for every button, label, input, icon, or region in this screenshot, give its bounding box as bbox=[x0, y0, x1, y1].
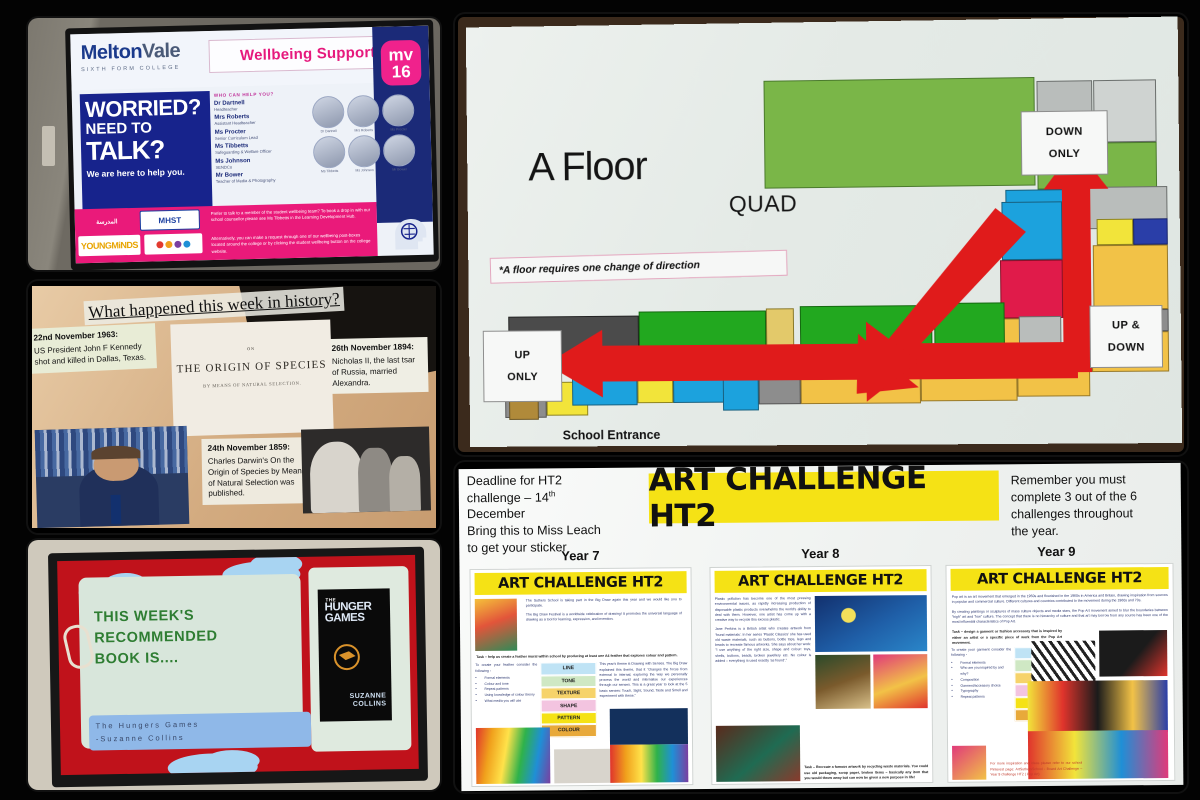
avatar-caption: Ms Tibbetts bbox=[314, 169, 346, 174]
bullet-item: Who are you inspired by and why? bbox=[960, 666, 1011, 678]
panel-history-slide: What happened this week in history? 22nd… bbox=[28, 281, 440, 533]
deadline-line-4: Bring this to Miss Leach bbox=[467, 522, 627, 540]
year-9-banner: ART CHALLENGE HT2 bbox=[950, 567, 1168, 591]
mhst-logo: MHST bbox=[140, 209, 200, 230]
year-7-consider: To create your feather consider the foll… bbox=[475, 663, 537, 674]
panel-book-screen: THIS WEEK'S RECOMMENDED BOOK IS.... The … bbox=[28, 540, 440, 790]
element-chip: SHAPE bbox=[541, 699, 597, 712]
deadline-line-2: challenge – 14 bbox=[467, 490, 549, 505]
panel-wellbeing-screen: MeltonVale SIXTH FORM COLLEGE Wellbeing … bbox=[28, 18, 440, 270]
year-7-body-1: The Suthers School is taking part in the… bbox=[521, 597, 687, 609]
staff-photo: Ms Tibbetts bbox=[313, 136, 346, 174]
mv16-line1: mv bbox=[388, 46, 413, 64]
mv16-line2: 16 bbox=[392, 63, 411, 80]
history-box-jfk: 22nd November 1963: US President John F … bbox=[32, 323, 157, 373]
staff-photo: Ms Procter bbox=[382, 94, 415, 132]
history-date-3: 24th November 1859: bbox=[208, 442, 314, 453]
year-7-elements-ladder: LINETONETEXTURESHAPEPATTERNCOLOUR bbox=[540, 662, 597, 737]
slide-footer: المدرسة MHST YOUNGMiNDS bbox=[75, 202, 378, 263]
book-slide: THIS WEEK'S RECOMMENDED BOOK IS.... The … bbox=[57, 555, 419, 775]
avatar bbox=[383, 134, 416, 167]
year-9-image-pinterest-thumb bbox=[952, 746, 986, 780]
arabic-logo: المدرسة bbox=[78, 211, 136, 232]
deadline-line-1: Deadline for HT2 bbox=[467, 472, 627, 490]
sign-up-only-line1: UP bbox=[514, 344, 530, 366]
year-9-image-garments-row bbox=[1027, 680, 1167, 733]
staff-row: Mrs RobertsAssistant Headteacher bbox=[214, 113, 306, 126]
origin-subtitle: BY MEANS OF NATURAL SELECTION. bbox=[172, 379, 332, 389]
year-7-label: Year 7 bbox=[469, 547, 691, 564]
year-7-banner: ART CHALLENGE HT2 bbox=[475, 571, 687, 595]
year-8-body-1: Plastic pollution has become one of the … bbox=[715, 596, 811, 623]
wellbeing-slide: MeltonVale SIXTH FORM COLLEGE Wellbeing … bbox=[70, 26, 433, 264]
year-9-footer: For more inspiration and ideas please re… bbox=[990, 761, 1082, 778]
brain-head-icon bbox=[391, 217, 430, 252]
year-9-banner-text: ART CHALLENGE HT2 bbox=[977, 570, 1142, 587]
cover-author-last: COLLINS bbox=[350, 701, 387, 710]
year-7-image-feathers-sketch bbox=[554, 749, 614, 784]
panel-art-challenge: Deadline for HT2 challenge – 14th Decemb… bbox=[455, 462, 1187, 792]
year-8-body-2: Jane Perkins is a British artist who cre… bbox=[715, 626, 811, 664]
college-logo: MeltonVale SIXTH FORM COLLEGE bbox=[80, 39, 201, 73]
year-9-bullets: Formal elementsWho are you inspired by a… bbox=[960, 660, 1011, 701]
book-note-author: -Suzanne Collins bbox=[96, 730, 304, 746]
history-box-nicholas: 26th November 1894: Nicholas II, the las… bbox=[325, 337, 428, 395]
avatar bbox=[348, 135, 381, 168]
year-8-image-starry-night bbox=[815, 595, 927, 652]
logo-melton: Melton bbox=[80, 41, 142, 64]
reminder-line-1: Remember you must bbox=[1011, 471, 1171, 490]
avatar bbox=[347, 95, 380, 128]
headline-talk: TALK? bbox=[86, 136, 207, 164]
year-7-poster: ART CHALLENGE HT2 The Suthers School is … bbox=[469, 567, 693, 787]
jfk-photo bbox=[35, 426, 190, 528]
origin-of-species-titlepage: ON THE ORIGIN OF SPECIES BY MEANS OF NAT… bbox=[170, 320, 333, 437]
element-chip: LINE bbox=[540, 662, 596, 675]
cover-author: SUZANNE COLLINS bbox=[350, 693, 387, 710]
bullet-item: What media you will use bbox=[485, 698, 538, 704]
reminder-note: Remember you must complete 3 out of the … bbox=[1011, 471, 1172, 541]
year-9-label: Year 9 bbox=[945, 543, 1167, 560]
element-chip: TONE bbox=[540, 675, 596, 688]
sign-down-only: DOWN ONLY bbox=[1021, 110, 1109, 175]
origin-top-word: ON bbox=[171, 344, 331, 354]
staff-row: Ms JohnsonSENDCo bbox=[215, 157, 307, 170]
staff-photo: Mr Bower bbox=[383, 134, 416, 172]
history-text-3: Charles Darwin's On the Origin of Specie… bbox=[208, 455, 315, 500]
bullet-item: Repeat patterns bbox=[961, 695, 1012, 701]
tv-bezel: MeltonVale SIXTH FORM COLLEGE Wellbeing … bbox=[65, 20, 439, 270]
art-noticeboard: Deadline for HT2 challenge – 14th Decemb… bbox=[459, 463, 1184, 791]
year-8-image-found-materials bbox=[716, 725, 800, 782]
floor-map-slide: A Floor QUAD *A floor requires one chang… bbox=[466, 16, 1182, 446]
book-cover-wrap: THE HUNGER GAMES SUZANNE COLLINS bbox=[308, 566, 411, 752]
avatar-caption: Ms Procter bbox=[383, 127, 415, 132]
avatar-caption: Ms Johnson bbox=[349, 168, 381, 173]
sign-up-down-line2: DOWN bbox=[1108, 336, 1145, 358]
year-9-image-popart-shoes bbox=[1099, 630, 1167, 677]
staff-photo: Mrs Roberts bbox=[347, 95, 380, 133]
year-8-task: Task – Recreate a famous artwork by recy… bbox=[804, 764, 928, 781]
staff-role: Headteacher bbox=[214, 105, 306, 112]
avatar-caption: Mrs Roberts bbox=[348, 128, 380, 133]
staff-row: Ms TibbettsSafeguarding & Welfare Office… bbox=[215, 142, 307, 155]
staff-photo: Ms Johnson bbox=[348, 135, 381, 173]
headline-worried: WORRIED? bbox=[85, 97, 205, 121]
staff-role: Senior Curriculum Lead bbox=[215, 134, 307, 141]
avatar-caption: Mr Bower bbox=[384, 167, 416, 172]
deadline-note: Deadline for HT2 challenge – 14th Decemb… bbox=[467, 472, 628, 557]
art-main-banner-text: ART CHALLENGE HT2 bbox=[649, 463, 1000, 535]
sign-up-only: UP ONLY bbox=[483, 330, 563, 402]
who-can-help-label: WHO CAN HELP YOU? bbox=[214, 91, 274, 97]
sign-up-down-line1: UP & bbox=[1112, 314, 1140, 336]
year-8-image-pearl-earring bbox=[815, 655, 870, 709]
staff-role: Teacher of Media & Photography bbox=[216, 178, 308, 185]
staff-row: Ms ProcterSenior Curriculum Lead bbox=[215, 128, 307, 141]
year-7-image-rainbow-wings bbox=[610, 744, 688, 783]
art-main-banner: ART CHALLENGE HT2 bbox=[649, 470, 999, 523]
route-arrows bbox=[466, 16, 1182, 443]
year-9-consider: To create your garment consider the foll… bbox=[951, 647, 1011, 658]
slide-title: Wellbeing Support bbox=[240, 44, 376, 64]
origin-title: THE ORIGIN OF SPECIES bbox=[172, 358, 332, 375]
tv-bezel-2: THIS WEEK'S RECOMMENDED BOOK IS.... The … bbox=[48, 547, 428, 788]
photo-collage: MeltonVale SIXTH FORM COLLEGE Wellbeing … bbox=[0, 0, 1200, 800]
history-slide: What happened this week in history? 22nd… bbox=[32, 286, 436, 528]
staff-role: Safeguarding & Welfare Officer bbox=[215, 149, 307, 156]
sign-up-and-down: UP & DOWN bbox=[1089, 305, 1163, 368]
deadline-ordinal: th bbox=[549, 489, 556, 498]
book-title-note: The Hungers Games -Suzanne Collins bbox=[88, 712, 311, 751]
staff-list: Dr DartnellHeadteacherMrs RobertsAssista… bbox=[214, 99, 308, 188]
history-date-1: 22nd November 1963: bbox=[33, 328, 149, 342]
staff-role: Assistant Headteacher bbox=[214, 120, 306, 127]
footer-text-2: Alternatively, you can make a request th… bbox=[211, 232, 373, 255]
year-9-poster: ART CHALLENGE HT2 Pop art is an art move… bbox=[945, 563, 1175, 783]
avatar bbox=[313, 136, 346, 169]
year-8-image-marilyn bbox=[873, 654, 928, 708]
youngminds-logo: YOUNGMiNDS bbox=[78, 235, 140, 257]
avatar bbox=[312, 96, 345, 129]
year-9-image-bucket-hat bbox=[1031, 641, 1095, 686]
year-9-body-1: Pop art is an art movement that emerged … bbox=[947, 593, 1173, 605]
partner-logos: المدرسة MHST YOUNGMiNDS bbox=[78, 209, 207, 260]
mockingjay-icon bbox=[334, 644, 360, 670]
year-7-image-paints bbox=[476, 727, 550, 784]
logo-vale: Vale bbox=[142, 40, 181, 63]
sign-up-only-line2: ONLY bbox=[507, 366, 538, 388]
year-7-image-blue-feathers bbox=[610, 708, 688, 745]
staff-role: SENDCo bbox=[215, 163, 307, 170]
history-text-1: US President John F Kennedy shot and kil… bbox=[34, 341, 151, 368]
year-8-poster: ART CHALLENGE HT2 Plastic pollution has … bbox=[709, 565, 933, 785]
history-text-2: Nicholas II, the last tsar of Russia, ma… bbox=[332, 355, 423, 389]
avatar-caption: Dr Dartnell bbox=[313, 129, 345, 134]
element-chip: PATTERN bbox=[541, 712, 597, 725]
avatar bbox=[382, 94, 415, 127]
year-9-body-2: By creating paintings or sculptures of m… bbox=[947, 607, 1173, 625]
year-7-image-bigdraw bbox=[475, 599, 517, 651]
hunger-games-cover: THE HUNGER GAMES SUZANNE COLLINS bbox=[317, 588, 391, 722]
year-8-banner: ART CHALLENGE HT2 bbox=[715, 569, 927, 593]
headline-help: We are here to help you. bbox=[87, 166, 207, 179]
year-7-theme: This year's theme is Drawing with Senses… bbox=[599, 661, 687, 699]
element-chip: TEXTURE bbox=[541, 687, 597, 700]
mv16-badge: mv 16 bbox=[380, 40, 421, 86]
reminder-line-2: complete 3 out of the 6 bbox=[1011, 488, 1171, 507]
year-8-banner-text: ART CHALLENGE HT2 bbox=[738, 572, 903, 589]
staff-row: Mr BowerTeacher of Media & Photography bbox=[216, 171, 308, 184]
sign-down-only-line1: DOWN bbox=[1046, 121, 1083, 144]
footer-text-1: Prefer to talk to a member of the studen… bbox=[211, 207, 373, 224]
year-7-body-2: The Big Draw Festival is a worldwide cel… bbox=[521, 611, 687, 623]
romanov-wedding-photo bbox=[301, 426, 431, 513]
year-7-banner-text: ART CHALLENGE HT2 bbox=[498, 574, 663, 591]
staff-photo-grid: Dr DartnellMrs RobertsMs ProcterMs Tibbe… bbox=[312, 94, 422, 174]
sign-down-only-line2: ONLY bbox=[1049, 143, 1081, 166]
deadline-line-3: December bbox=[467, 505, 627, 523]
year-8-label: Year 8 bbox=[709, 545, 931, 562]
history-date-2: 26th November 1894: bbox=[332, 342, 422, 353]
logo-subtitle: SIXTH FORM COLLEGE bbox=[81, 64, 201, 73]
colour-dots-logo bbox=[144, 233, 202, 254]
wall-socket bbox=[42, 126, 55, 166]
staff-photo: Dr Dartnell bbox=[312, 96, 345, 134]
panel-floor-map: A Floor QUAD *A floor requires one chang… bbox=[455, 14, 1187, 455]
cover-games: GAMES bbox=[325, 612, 390, 624]
year-7-bullets: Formal elementsColour and toneRepeat pat… bbox=[484, 675, 537, 704]
reminder-line-3: challenges throughout bbox=[1011, 505, 1171, 524]
reminder-line-4: the year. bbox=[1011, 522, 1171, 541]
staff-row: Dr DartnellHeadteacher bbox=[214, 99, 306, 112]
